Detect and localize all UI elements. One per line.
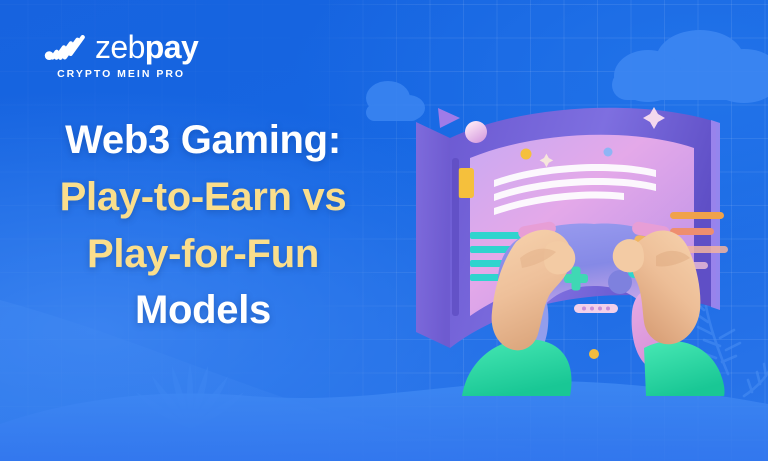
page-title: Web3 Gaming: Play-to-Earn vs Play-for-Fu… xyxy=(0,112,406,339)
floating-dot-blue xyxy=(604,148,613,157)
headline-line-1: Web3 Gaming: xyxy=(0,112,406,169)
right-sleeve xyxy=(644,341,725,396)
logo-word-light: zeb xyxy=(95,29,145,65)
illustration-svg xyxy=(398,96,768,396)
gaming-illustration xyxy=(398,96,768,396)
floating-dot-yellow-2 xyxy=(589,349,599,359)
floating-dot-yellow-1 xyxy=(521,149,532,160)
controller-center-label xyxy=(574,304,618,313)
logo-wordmark: zebpay xyxy=(95,31,198,63)
headline-line-4: Models xyxy=(0,282,406,339)
floating-sphere xyxy=(465,121,487,143)
logo-tagline: CRYPTO MEIN PRO xyxy=(57,68,185,80)
banner-root: zebpay CRYPTO MEIN PRO Web3 Gaming: Play… xyxy=(0,0,768,461)
logo-word-bold: pay xyxy=(145,29,198,65)
zebpay-mark-icon xyxy=(44,33,86,61)
headline-line-3: Play-for-Fun xyxy=(0,226,406,283)
headline-line-2: Play-to-Earn vs xyxy=(0,169,406,226)
screen-left-wing xyxy=(416,122,450,348)
screen-hud-yellow-block xyxy=(458,168,474,198)
brand-logo[interactable]: zebpay CRYPTO MEIN PRO xyxy=(44,31,198,80)
floating-triangle xyxy=(438,108,460,128)
screen-hud-dark-strip xyxy=(452,158,459,316)
logo-row: zebpay xyxy=(44,31,198,63)
